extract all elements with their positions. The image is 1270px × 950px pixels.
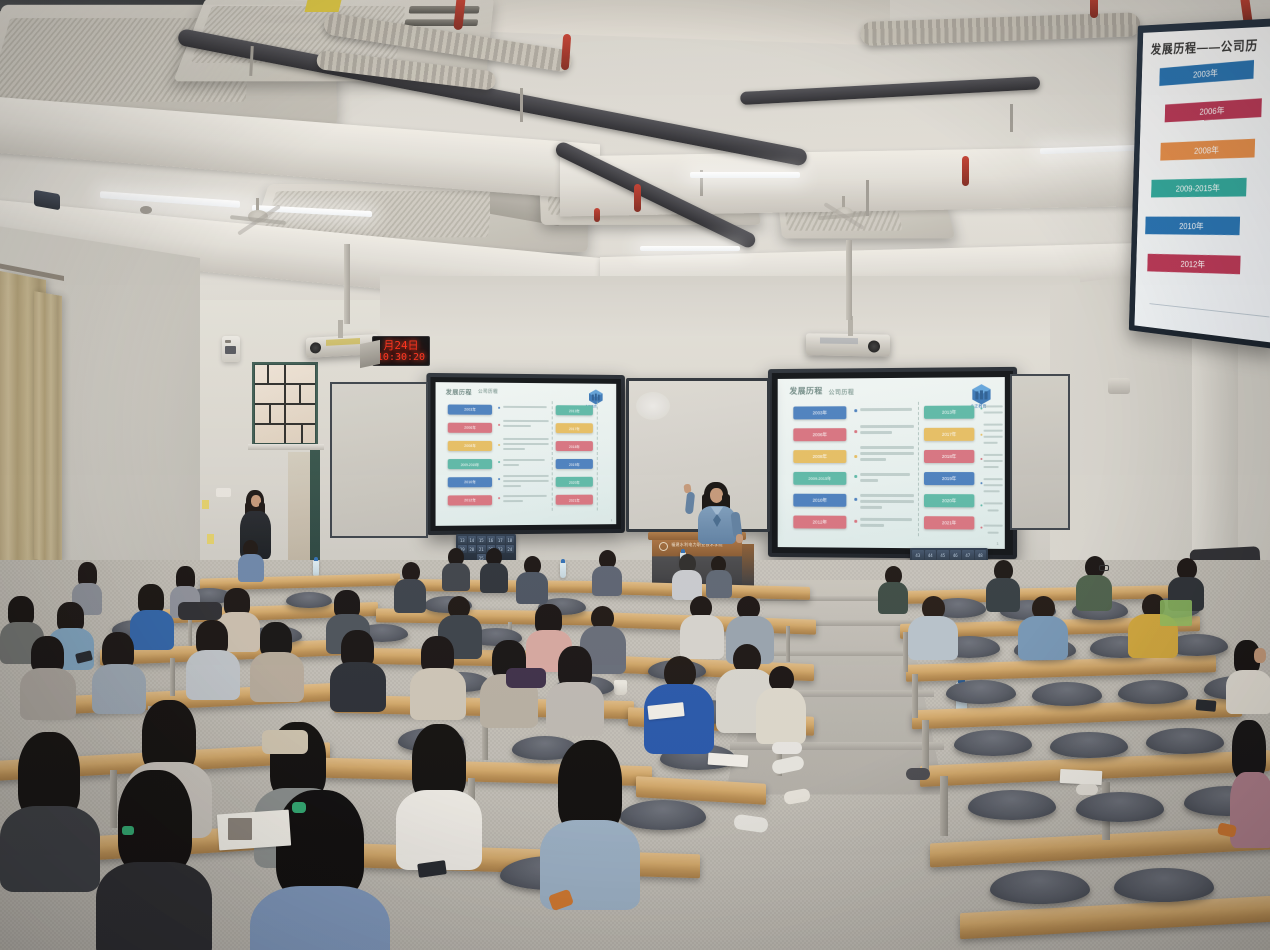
student bbox=[1230, 720, 1270, 840]
slide-right-yr-3-label: 2009-2015年 bbox=[808, 475, 831, 481]
student bbox=[1018, 596, 1068, 658]
water-bottle[interactable] bbox=[560, 562, 566, 578]
projection-screen-left: 发展历程 公司历程 永正教育 2003年 bbox=[426, 373, 625, 535]
student bbox=[96, 770, 212, 950]
clock-occluder bbox=[360, 340, 380, 368]
student bbox=[250, 622, 304, 698]
backpack[interactable] bbox=[178, 602, 222, 620]
projection-screen-right: 发展历程 公司历程 永正教育 2003年 bbox=[768, 367, 1017, 559]
led-clock: 月24日 10:30:20 bbox=[372, 336, 430, 366]
slide-left-r-yr-3: 2019年 bbox=[556, 459, 593, 469]
student bbox=[1226, 640, 1270, 710]
handout[interactable] bbox=[1060, 769, 1103, 785]
seat-btn[interactable]: 17 bbox=[496, 536, 505, 544]
slide-right-far-dot-4 bbox=[980, 504, 982, 506]
banner-item-2: 2008年 bbox=[1160, 139, 1255, 161]
slide-right-r-yr-0-label: 2013年 bbox=[942, 409, 956, 415]
door-window bbox=[288, 452, 310, 572]
ceiling-fan-2 bbox=[818, 196, 870, 228]
slide-left-r-yr-3-label: 2019年 bbox=[569, 461, 580, 466]
sprinkler-pipe-7 bbox=[594, 208, 600, 222]
student bbox=[186, 620, 240, 696]
wall-speaker-right bbox=[1108, 378, 1130, 394]
slide-left-r-yr-0-label: 2013年 bbox=[569, 408, 580, 413]
student bbox=[330, 630, 386, 708]
classroom-photo: 发展历程——公司历 2003年 2006年 2008年 2009-2015年 2… bbox=[0, 0, 1270, 950]
chair[interactable] bbox=[990, 870, 1090, 904]
slide-right-title: 发展历程 bbox=[789, 386, 822, 397]
slide-left-title: 发展历程 bbox=[446, 387, 472, 396]
slide-right-r-yr-1-label: 2017年 bbox=[942, 431, 956, 437]
slide-left-bullet-dot-2 bbox=[498, 444, 500, 446]
student bbox=[0, 732, 100, 882]
slide-right-bullet-dot-3 bbox=[854, 475, 856, 477]
slide-right-subtitle: 公司历程 bbox=[829, 387, 855, 396]
wall-control-box bbox=[222, 336, 240, 362]
slide-left-bullet-dot-5 bbox=[498, 497, 500, 499]
ceiling-sensor bbox=[140, 206, 152, 214]
slide-right-r-yr-3-label: 2019年 bbox=[942, 476, 956, 482]
led-clock-date: 月24日 bbox=[383, 339, 418, 352]
banner-title: 发展历程——公司历 bbox=[1150, 34, 1270, 58]
slide-left-r-yr-4-label: 2020年 bbox=[569, 479, 580, 484]
chair[interactable] bbox=[1114, 868, 1214, 902]
slide-right-yr-5: 2012年 bbox=[793, 515, 846, 528]
slide-right-yr-4-label: 2010年 bbox=[812, 497, 827, 503]
slide-right-bullet-dot-5 bbox=[854, 520, 856, 523]
curtain-left-2 bbox=[34, 291, 62, 564]
desk-leg bbox=[170, 658, 175, 696]
slide-right-far-dot-2 bbox=[980, 458, 982, 460]
slide-right-r-yr-0: 2013年 bbox=[924, 406, 974, 419]
slide-right-r-yr-2: 2018年 bbox=[924, 450, 974, 463]
screen-left-inner: 发展历程 公司历程 永正教育 2003年 bbox=[430, 377, 621, 531]
banner-item-0-label: 2003年 bbox=[1193, 66, 1218, 81]
banner-item-4: 2010年 bbox=[1145, 217, 1240, 236]
banner-item-3: 2009-2015年 bbox=[1151, 178, 1247, 198]
chair[interactable] bbox=[1118, 680, 1188, 704]
slide-left-r-yr-0: 2013年 bbox=[556, 405, 593, 415]
hair-tie-icon bbox=[292, 802, 306, 813]
slide-left-r-yr-1-label: 2017年 bbox=[569, 426, 580, 431]
slide-right-r-yr-2-label: 2018年 bbox=[942, 453, 956, 459]
slide-right-far-dot-0 bbox=[980, 408, 982, 410]
student bbox=[908, 596, 958, 658]
slide-left-page-number: 1 bbox=[611, 518, 613, 522]
slide-left-yr-2-label: 2008年 bbox=[464, 443, 476, 448]
slide-right-r-yr-5: 2021年 bbox=[924, 516, 974, 529]
wall-notice-yellow-2 bbox=[207, 534, 214, 544]
desk-leg bbox=[940, 776, 948, 836]
handout-photo bbox=[228, 818, 252, 840]
slide-left-r-yr-2-label: 2018年 bbox=[569, 444, 580, 449]
slide-left-yr-1-label: 2006年 bbox=[464, 425, 476, 430]
chair[interactable] bbox=[946, 680, 1016, 704]
projector-left-arm bbox=[344, 244, 350, 324]
slide-right-r-yr-1: 2017年 bbox=[924, 428, 974, 441]
slide-right-yr-5-label: 2012年 bbox=[812, 519, 827, 525]
slide-right-r-yr-4-label: 2020年 bbox=[942, 498, 956, 504]
student bbox=[540, 740, 640, 900]
slide-right-bullet-dot-0 bbox=[854, 409, 856, 412]
student bbox=[756, 666, 806, 752]
slide-right-r-yr-3: 2019年 bbox=[924, 472, 974, 485]
side-board-right bbox=[1010, 374, 1070, 530]
student bbox=[442, 548, 470, 588]
student bbox=[592, 550, 622, 594]
presenter bbox=[684, 482, 746, 554]
chair[interactable] bbox=[968, 790, 1056, 820]
chair[interactable] bbox=[1050, 732, 1128, 758]
student bbox=[986, 560, 1020, 610]
student bbox=[878, 566, 908, 612]
student bbox=[672, 554, 702, 598]
banner-item-4-label: 2010年 bbox=[1179, 219, 1204, 231]
ceiling-light-5 bbox=[640, 246, 740, 251]
student bbox=[410, 636, 466, 716]
slide-left-yr-0-label: 2003年 bbox=[464, 407, 476, 412]
banner-item-0: 2003年 bbox=[1159, 60, 1254, 86]
slide-left-bullet-dot-3 bbox=[498, 461, 500, 463]
banner-item-1: 2006年 bbox=[1165, 98, 1262, 122]
glasses-icon bbox=[1099, 565, 1109, 571]
slide-right-page-number: 1 bbox=[996, 541, 998, 546]
slide-left-r-yr-5-label: 2021年 bbox=[569, 497, 580, 502]
slide-left-r-yr-5: 2021年 bbox=[556, 495, 593, 505]
slide-left-bullet-dot-1 bbox=[498, 424, 500, 426]
sprinkler-pipe-3 bbox=[634, 184, 641, 212]
slide-right: 发展历程 公司历程 永正教育 2003年 bbox=[778, 377, 1005, 549]
chair[interactable] bbox=[954, 730, 1032, 756]
slide-right-bullet-dot-1 bbox=[854, 430, 856, 432]
banner-item-5: 2012年 bbox=[1147, 254, 1240, 274]
student bbox=[394, 562, 426, 610]
slide-right-yr-0: 2003年 bbox=[793, 406, 846, 419]
window-glass bbox=[255, 365, 315, 443]
chair[interactable] bbox=[1146, 728, 1224, 754]
slide-left-yr-3-label: 2009-2015年 bbox=[461, 462, 480, 467]
slide-right-far-dot-1 bbox=[980, 434, 982, 436]
banner-item-5-label: 2012年 bbox=[1180, 257, 1205, 270]
slide-left-bullet-dot-4 bbox=[498, 478, 500, 480]
seat-btn[interactable]: 14 bbox=[468, 536, 477, 544]
slide-right-yr-0-label: 2003年 bbox=[812, 410, 827, 416]
student bbox=[480, 548, 508, 590]
chair[interactable] bbox=[1032, 682, 1102, 706]
slide-right-yr-2-label: 2008年 bbox=[812, 454, 827, 460]
slide-left-subtitle: 公司历程 bbox=[478, 389, 498, 395]
banner-rule bbox=[1149, 303, 1269, 317]
student bbox=[516, 556, 548, 602]
side-board-left bbox=[330, 382, 428, 538]
shoe bbox=[772, 742, 802, 754]
student bbox=[92, 632, 146, 710]
banner-item-2-label: 2008年 bbox=[1194, 143, 1219, 156]
seat-btn[interactable]: 18 bbox=[506, 536, 515, 544]
duct-hanger-5 bbox=[1010, 104, 1013, 132]
slide-right-bullet-dot-4 bbox=[854, 498, 856, 501]
slide-left-yr-3: 2009-2015年 bbox=[448, 459, 492, 469]
wall-notice-yellow bbox=[202, 500, 209, 509]
ceiling-fan-1 bbox=[230, 198, 286, 232]
tissue-on-floor bbox=[1076, 784, 1098, 795]
phone[interactable] bbox=[1196, 699, 1217, 712]
slide-right-r-yr-4: 2020年 bbox=[924, 494, 974, 507]
seat-btn[interactable]: 15 bbox=[477, 536, 486, 544]
hair-tie-icon bbox=[122, 826, 134, 835]
student bbox=[706, 556, 732, 596]
projector-right-arm bbox=[846, 240, 852, 320]
green-wall-poster bbox=[1160, 600, 1192, 626]
student bbox=[238, 540, 264, 580]
hanging-banner: 发展历程——公司历 2003年 2006年 2008年 2009-2015年 2… bbox=[1129, 18, 1270, 350]
slide-right-r-yr-5-label: 2021年 bbox=[942, 520, 956, 526]
slide-left-yr-5: 2012年 bbox=[448, 495, 492, 505]
desk-leg bbox=[912, 674, 918, 718]
projector-right bbox=[806, 333, 890, 356]
slide-left-yr-5-label: 2012年 bbox=[464, 498, 476, 503]
bag-on-desk[interactable] bbox=[262, 730, 308, 754]
water-bottle[interactable] bbox=[313, 560, 319, 577]
student bbox=[1076, 556, 1112, 610]
slide-left-r-yr-4: 2020年 bbox=[556, 477, 593, 487]
sprinkler-pipe-6 bbox=[1090, 0, 1098, 18]
podium-emblem-icon bbox=[659, 542, 668, 551]
slide-right-far-dot-3 bbox=[980, 482, 982, 484]
slide-left-yr-4-label: 2010年 bbox=[464, 480, 476, 485]
slide-left-yr-1: 2006年 bbox=[448, 423, 492, 433]
ceiling-light-3 bbox=[690, 172, 800, 178]
led-clock-time: 10:30:20 bbox=[377, 352, 425, 364]
ac-warning-label bbox=[305, 0, 342, 12]
slide-left: 发展历程 公司历程 永正教育 2003年 bbox=[436, 382, 617, 526]
slide-right-yr-1-label: 2006年 bbox=[812, 432, 827, 438]
student bbox=[20, 636, 76, 716]
seat-btn[interactable]: 13 bbox=[458, 536, 467, 544]
banner-item-1-label: 2006年 bbox=[1199, 104, 1224, 118]
chair[interactable] bbox=[1076, 792, 1164, 822]
slide-right-yr-1: 2006年 bbox=[793, 428, 846, 441]
backpack[interactable] bbox=[506, 668, 546, 688]
front-wall-upper bbox=[380, 276, 1080, 336]
slide-right-yr-2: 2008年 bbox=[793, 450, 846, 463]
slide-left-yr-2: 2008年 bbox=[448, 441, 492, 451]
banner-item-3-label: 2009-2015年 bbox=[1176, 181, 1221, 194]
whiteboard-highlight bbox=[636, 392, 670, 420]
slide-left-yr-0: 2003年 bbox=[448, 404, 492, 414]
slide-left-r-yr-2: 2018年 bbox=[556, 441, 593, 451]
seat-btn[interactable]: 16 bbox=[487, 536, 496, 544]
student bbox=[396, 724, 482, 860]
slide-right-yr-4: 2010年 bbox=[793, 494, 846, 507]
slide-left-yr-4: 2010年 bbox=[448, 477, 492, 487]
slide-left-r-yr-1: 2017年 bbox=[556, 423, 593, 433]
slide-right-yr-3: 2009-2015年 bbox=[793, 472, 846, 485]
student bbox=[546, 646, 604, 732]
projector-left-mount bbox=[338, 320, 343, 338]
slide-right-far-dot-5 bbox=[980, 527, 982, 529]
slide-right-bullet-dot-2 bbox=[854, 455, 856, 457]
sprinkler-pipe-4 bbox=[962, 156, 969, 186]
floor-step-3 bbox=[750, 650, 926, 656]
cup[interactable] bbox=[614, 680, 627, 695]
screen-right-inner: 发展历程 公司历程 永正教育 2003年 bbox=[772, 371, 1013, 555]
shoe bbox=[906, 768, 930, 780]
slide-left-bullet-dot-0 bbox=[498, 407, 500, 409]
duct-hanger-2 bbox=[520, 88, 523, 122]
wall-outlet bbox=[216, 488, 231, 497]
desk-leg bbox=[786, 626, 790, 662]
